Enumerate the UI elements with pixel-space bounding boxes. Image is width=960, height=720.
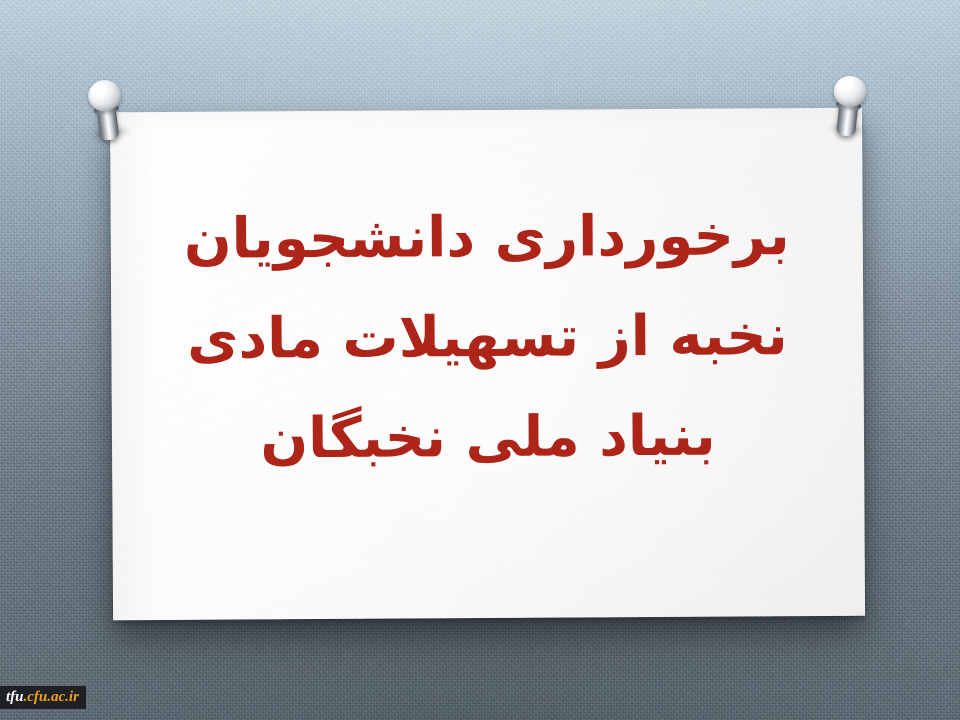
watermark-prefix: tfu bbox=[6, 686, 24, 709]
headline-line-1: برخورداری دانشجویان bbox=[110, 186, 863, 291]
pushpin-head bbox=[832, 74, 868, 108]
watermark-suffix: .cfu.ac.ir bbox=[24, 686, 79, 709]
headline-line-2: نخبه از تسهیلات مادی bbox=[111, 286, 864, 391]
pushpin-head bbox=[86, 78, 123, 113]
site-watermark: tfu .cfu.ac.ir bbox=[0, 686, 86, 709]
announcement-board: برخورداری دانشجویان نخبه از تسهیلات مادی… bbox=[0, 0, 960, 720]
headline-block: برخورداری دانشجویان نخبه از تسهیلات مادی… bbox=[110, 186, 864, 491]
paper-sheet: برخورداری دانشجویان نخبه از تسهیلات مادی… bbox=[110, 108, 865, 621]
headline-line-3: بنیاد ملی نخبگان bbox=[112, 386, 865, 491]
